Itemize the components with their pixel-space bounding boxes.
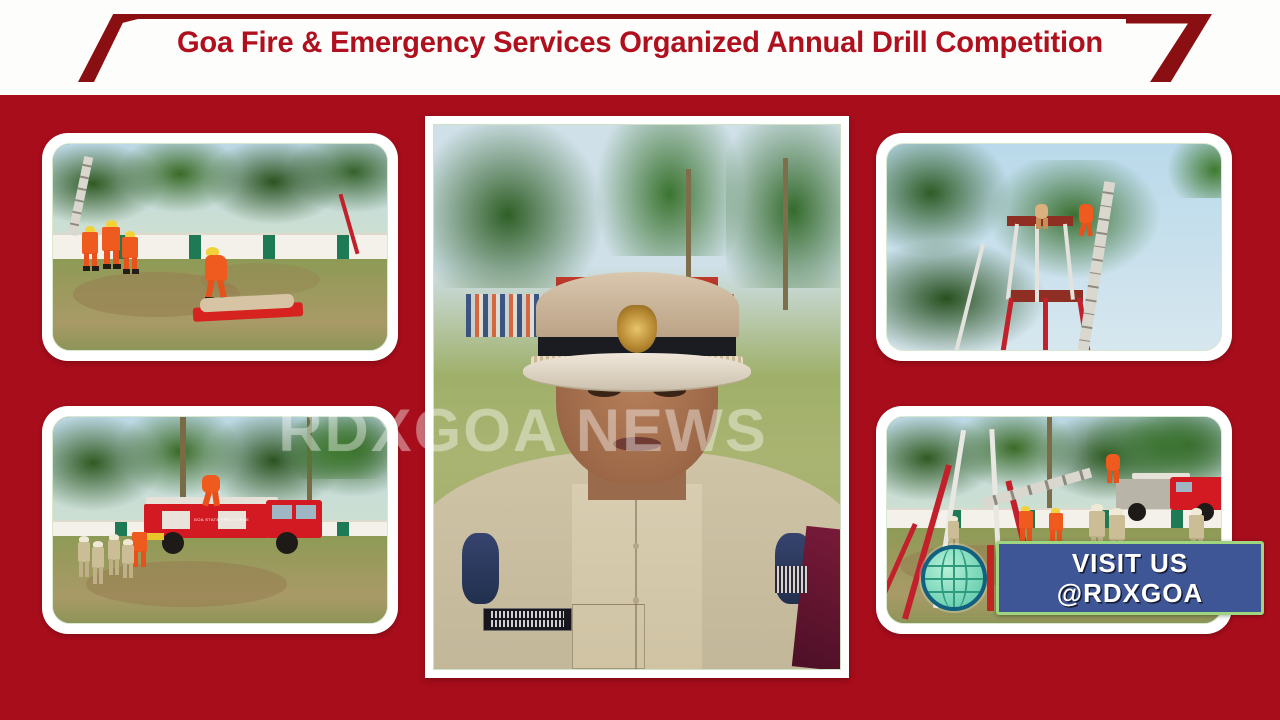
photo-card-center[interactable] (425, 116, 849, 678)
service-ribbon (775, 566, 807, 593)
badge-accent-bar (987, 545, 994, 611)
palm-fronds (280, 416, 388, 479)
police-personnel (120, 539, 136, 581)
header-top-rule (120, 14, 1196, 19)
officer-nameplate (483, 608, 572, 631)
palm-trunk (1047, 417, 1052, 520)
firefighter (1104, 454, 1122, 486)
firefighter (120, 231, 142, 275)
firefighter (1047, 508, 1065, 546)
drill-tower (1001, 198, 1131, 348)
firefighter (200, 475, 222, 511)
fire-engine: GOA STATE FIRE FORCE (140, 497, 328, 563)
photo-bottom-left: GOA STATE FIRE FORCE (52, 416, 388, 624)
officer-figure (434, 125, 840, 669)
firefighter (1017, 506, 1035, 544)
photo-top-left (52, 143, 388, 351)
firefighter-climber (1034, 204, 1050, 230)
firefighter (80, 226, 102, 272)
globe-icon (921, 545, 987, 611)
photo-card-top-right[interactable] (876, 133, 1232, 361)
police-personnel (90, 541, 106, 587)
visit-us-handle: @RDXGOA (999, 578, 1261, 609)
visit-us-line1: VISIT US (999, 548, 1261, 579)
epaulette-left (462, 533, 499, 604)
visit-us-badge[interactable]: VISIT US @RDXGOA (996, 541, 1264, 615)
photo-center-officer (433, 124, 841, 670)
palm-fronds (1168, 143, 1222, 198)
peaked-cap-visor (523, 353, 750, 391)
firefighter-climber (1077, 204, 1095, 238)
fire-tender (1114, 473, 1222, 529)
shirt-pocket (572, 604, 645, 669)
broadcast-graphic: Goa Fire & Emergency Services Organized … (0, 0, 1280, 720)
photo-card-bottom-left[interactable]: GOA STATE FIRE FORCE (42, 406, 398, 634)
photo-top-right (886, 143, 1222, 351)
header-banner: Goa Fire & Emergency Services Organized … (0, 0, 1280, 95)
page-title: Goa Fire & Emergency Services Organized … (19, 26, 1261, 60)
photo-card-top-left[interactable] (42, 133, 398, 361)
